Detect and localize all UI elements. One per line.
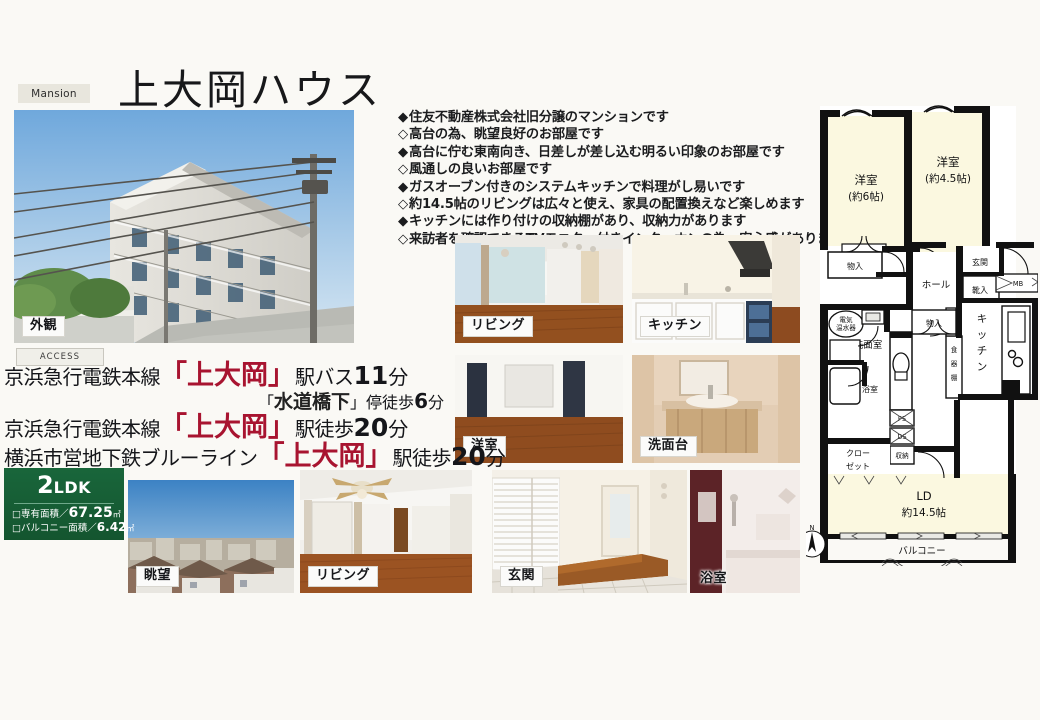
station-name: 上大岡	[285, 441, 366, 472]
photo-caption: 外観	[22, 316, 65, 337]
room-label-balcony: バルコニー	[898, 546, 945, 557]
room-label-genkan: 玄関	[972, 257, 988, 267]
exclusive-area-value: 67.25	[68, 505, 112, 521]
rooms-type: LDK	[54, 478, 91, 497]
access-line-3: 横浜市営地下鉄ブルーライン「上大岡」駅徒歩20分	[4, 443, 454, 470]
feature-item: ◆高台に佇む東南向き、日差しが差し込む明るい印象のお部屋です	[398, 144, 838, 161]
photo-entrance: 玄関	[492, 470, 687, 593]
photo-caption: リビング	[308, 566, 378, 587]
access-unit: 分	[388, 365, 408, 389]
quote-close: 」	[268, 412, 295, 443]
photo-caption: 洗面台	[640, 436, 697, 457]
flyer-page: Mansion 上大岡ハウス ◆住友不動産株式会社旧分譲のマンションです ◇高台…	[0, 0, 1040, 720]
svg-text:ッ: ッ	[977, 329, 988, 341]
svg-text:温水器: 温水器	[836, 323, 856, 332]
access-line-1b: 「水道橋下」停徒歩6分	[4, 391, 454, 412]
exclusive-area-unit: ㎡	[113, 510, 121, 519]
photo-caption: キッチン	[640, 316, 710, 337]
access-minutes: 20	[354, 413, 389, 442]
exterior-photo-graphic	[14, 110, 354, 343]
bullet-marker-icon: ◇	[398, 162, 408, 177]
feature-item: ◇風通しの良いお部屋です	[398, 161, 838, 178]
bus-stop-name: 水道橋下	[274, 391, 350, 413]
photo-kitchen: キッチン	[632, 235, 800, 343]
station-name: 上大岡	[187, 360, 268, 391]
access-line-1: 京浜急行電鉄本線「上大岡」駅バス11分	[4, 362, 454, 389]
feature-text: 住友不動産株式会社旧分譲のマンションです	[409, 110, 669, 125]
railway-name: 京浜急行電鉄本線	[4, 365, 160, 389]
quote-close: 」	[268, 360, 295, 391]
feature-text: 高台の為、眺望良好のお部屋です	[409, 127, 604, 142]
access-block: 京浜急行電鉄本線「上大岡」駅バス11分 「水道橋下」停徒歩6分 京浜急行電鉄本線…	[4, 362, 454, 472]
station-name: 上大岡	[187, 412, 268, 443]
balcony-area-row: □バルコニー面積／6.42㎡	[4, 521, 124, 535]
compass-label: N	[810, 524, 815, 532]
layout-type: 2LDK	[4, 472, 124, 501]
quote-open: 「	[258, 441, 285, 472]
feature-item: ◆キッチンには作り付けの収納棚があり、収納力があります	[398, 213, 838, 230]
room-sub-washitsu45: (約4.5帖)	[925, 172, 971, 185]
room-label-monoire-left: 物入	[847, 261, 863, 271]
photo-caption: リビング	[463, 316, 533, 337]
feature-list: ◆住友不動産株式会社旧分譲のマンションです ◇高台の為、眺望良好のお部屋です ◆…	[358, 109, 838, 248]
access-unit: 分	[428, 393, 444, 412]
photo-exterior: 外観	[14, 110, 354, 343]
access-unit: 分	[486, 446, 506, 470]
svg-text:ン: ン	[977, 361, 988, 373]
floor-plan: .w{fill:#111;} /* thick wall */ .tw{stro…	[806, 96, 1038, 566]
balcony-area-unit: ㎡	[126, 524, 134, 533]
balcony-area-value: 6.42	[97, 520, 127, 534]
room-sub-ld: 約14.5帖	[902, 506, 947, 519]
rooms-number: 2	[37, 471, 54, 499]
room-label-ld: LD	[916, 489, 931, 503]
svg-text:チ: チ	[977, 345, 988, 357]
bullet-marker-icon: ◆	[398, 110, 408, 125]
quote-close: 」	[366, 441, 393, 472]
access-unit: 分	[388, 417, 408, 441]
access-minutes: 6	[414, 389, 428, 413]
access-suffix: 駅徒歩	[295, 417, 354, 441]
room-label-kutsuire: 靴入	[972, 285, 988, 295]
feature-text: 高台に佇む東南向き、日差しが差し込む明るい印象のお部屋です	[409, 145, 785, 160]
bullet-marker-icon: ◆	[398, 180, 408, 195]
railway-name: 横浜市営地下鉄ブルーライン	[4, 446, 258, 470]
photo-living-second: リビング	[300, 470, 472, 593]
room-label-closet: クロー	[846, 449, 870, 458]
spec-divider	[14, 503, 114, 504]
photo-view: 眺望	[128, 480, 294, 593]
svg-text:器: 器	[951, 360, 958, 368]
room-sub-closet: ゼット	[846, 461, 870, 471]
exclusive-area-row: □専有面積／67.25㎡	[4, 507, 124, 521]
feature-text: キッチンには作り付けの収納棚があり、収納力があります	[409, 214, 746, 229]
page-title: 上大岡ハウス	[118, 70, 382, 111]
access-minutes: 20	[451, 442, 486, 471]
feature-text: ガスオーブン付きのシステムキッチンで料理がし易いです	[409, 180, 745, 195]
balcony-area-label: □バルコニー面積／	[12, 523, 97, 534]
room-label-washitsu6: 洋室	[855, 173, 878, 187]
photo-caption: 眺望	[136, 566, 179, 587]
exclusive-area-label: □専有面積／	[12, 509, 68, 520]
bullet-marker-icon: ◇	[398, 232, 408, 247]
bullet-marker-icon: ◆	[398, 145, 408, 160]
quote-open: 「	[160, 412, 187, 443]
room-label-hall: ホール	[922, 280, 951, 291]
room-label-mb: MB	[1013, 280, 1024, 288]
room-label-washitsu45: 洋室	[937, 155, 960, 169]
floor-plan-graphic: .w{fill:#111;} /* thick wall */ .tw{stro…	[806, 96, 1038, 566]
access-suffix: 停徒歩	[366, 393, 414, 412]
photo-bathroom: 浴室	[690, 470, 800, 593]
svg-text:棚: 棚	[951, 373, 958, 382]
room-sub-washitsu6: (約6帖)	[848, 190, 884, 203]
room-label-shuunou: 収納	[895, 451, 909, 460]
photo-caption: 玄関	[500, 566, 543, 587]
bullet-marker-icon: ◇	[398, 197, 408, 212]
feature-item: ◆住友不動産株式会社旧分譲のマンションです	[398, 109, 838, 126]
access-suffix: 駅バス	[295, 365, 354, 389]
photo-living-wide: リビング	[455, 235, 623, 343]
photo-caption: 浴室	[698, 571, 729, 587]
access-line-2: 京浜急行電鉄本線「上大岡」駅徒歩20分	[4, 414, 454, 441]
quote-open: 「	[160, 360, 187, 391]
bullet-marker-icon: ◇	[398, 127, 408, 142]
access-minutes: 11	[354, 361, 389, 390]
photo-washstand: 洗面台	[632, 355, 800, 463]
feature-item: ◇約14.5帖のリビングは広々と使え、家具の配置換えなど楽しめます	[398, 196, 838, 213]
bullet-marker-icon: ◆	[398, 214, 408, 229]
railway-name: 京浜急行電鉄本線	[4, 417, 160, 441]
quote-open: 「	[258, 393, 274, 412]
spec-badge: 2LDK □専有面積／67.25㎡ □バルコニー面積／6.42㎡	[4, 468, 124, 540]
feature-item: ◇高台の為、眺望良好のお部屋です	[398, 126, 838, 143]
feature-item: ◆ガスオーブン付きのシステムキッチンで料理がし易いです	[398, 179, 838, 196]
feature-text: 約14.5帖のリビングは広々と使え、家具の配置換えなど楽しめます	[409, 197, 804, 212]
category-tag: Mansion	[18, 84, 90, 103]
access-suffix: 駅徒歩	[393, 446, 452, 470]
quote-close: 」	[350, 393, 366, 412]
feature-text: 風通しの良いお部屋です	[409, 162, 552, 177]
